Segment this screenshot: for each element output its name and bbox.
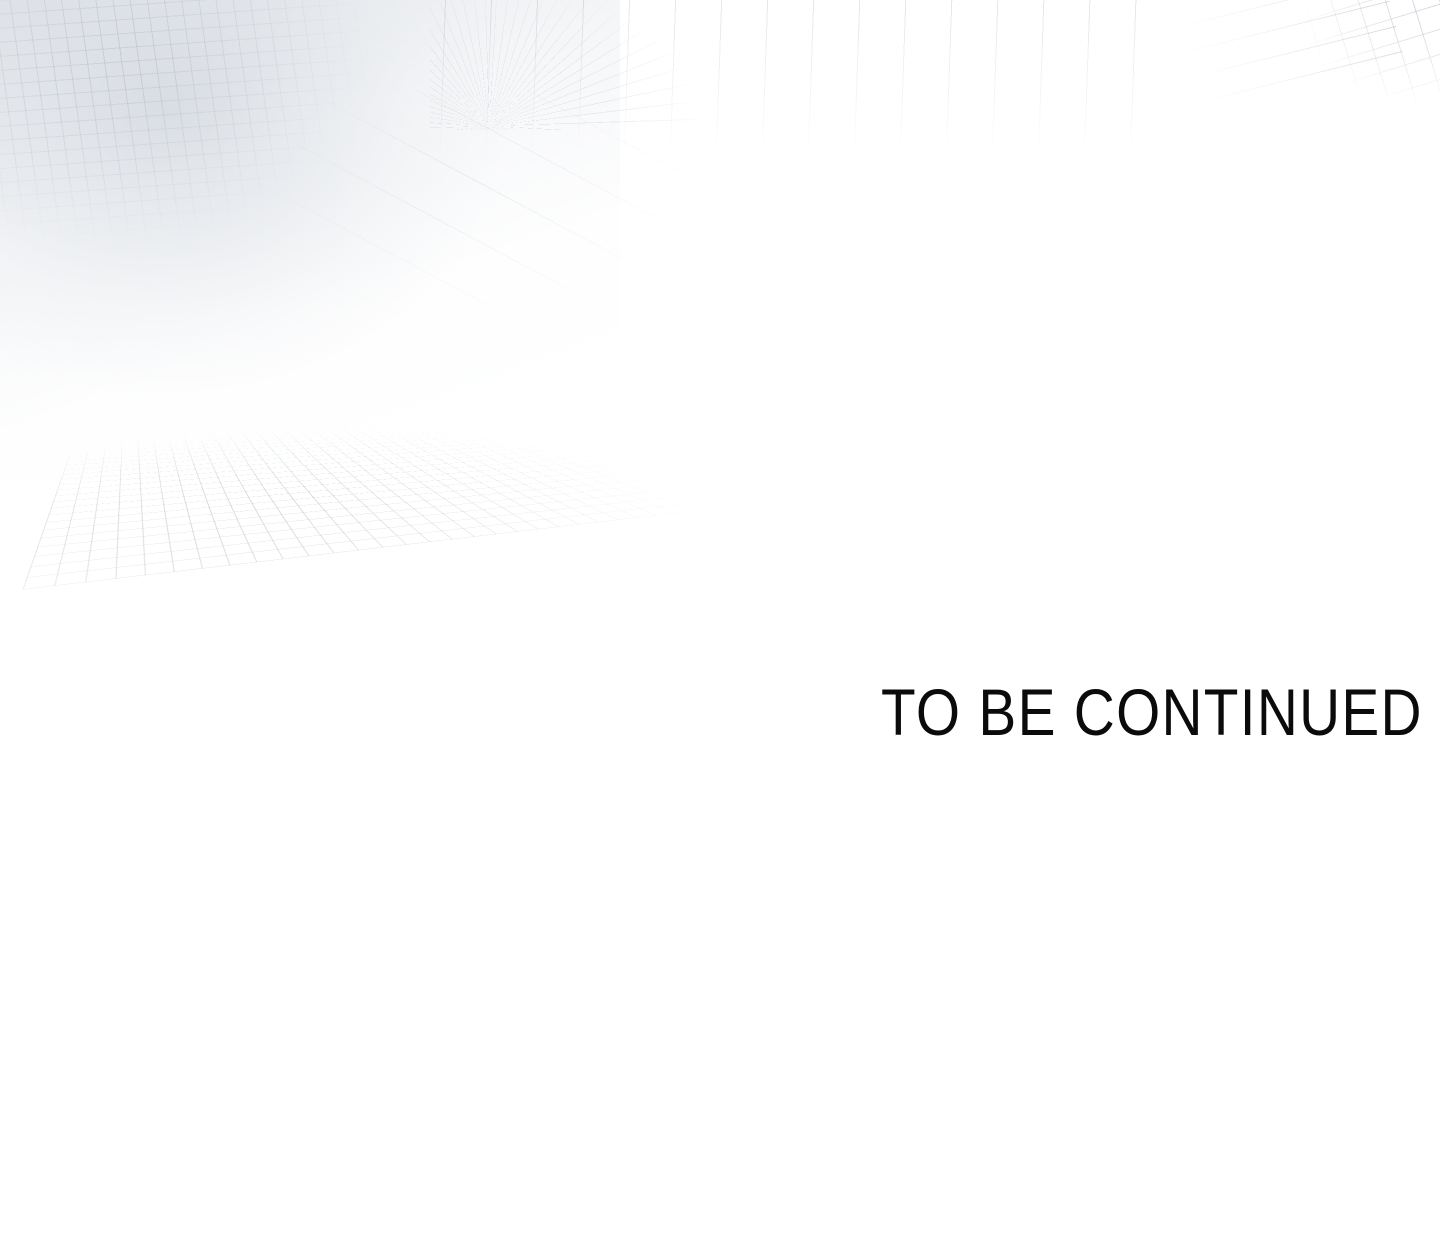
diagonal-scratches-texture bbox=[260, 90, 780, 420]
radiating-rays-icon bbox=[430, 0, 760, 130]
building-blocks-icon bbox=[0, 0, 509, 366]
corner-wash-band bbox=[0, 0, 620, 480]
city-grid-icon bbox=[22, 388, 936, 589]
corner-grid-right-icon bbox=[1219, 0, 1440, 203]
vertical-streaks-texture bbox=[400, 0, 1160, 160]
comic-panel: TO BE CONTINUED bbox=[0, 0, 1440, 1239]
to-be-continued-caption: TO BE CONTINUED bbox=[881, 679, 1423, 745]
corner-grid-right-dashes bbox=[1167, 0, 1402, 105]
corner-wash-texture bbox=[0, 0, 640, 580]
